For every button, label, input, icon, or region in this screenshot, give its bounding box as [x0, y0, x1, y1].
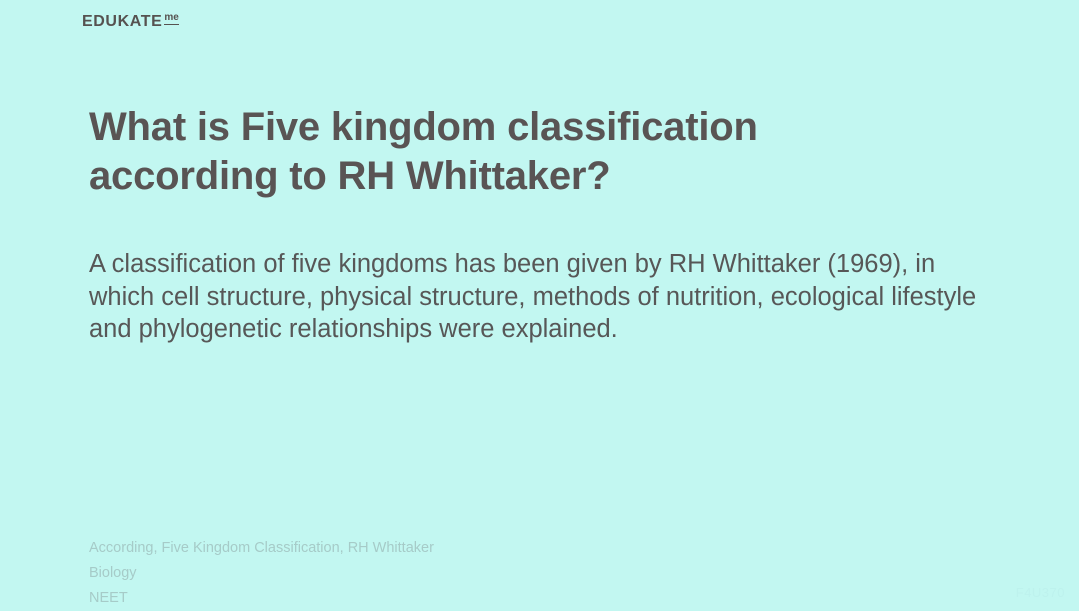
footer-line-keywords: According, Five Kingdom Classification, … [89, 536, 434, 561]
brand-suffix-text: me [164, 13, 178, 25]
page-title: What is Five kingdom classification acco… [89, 103, 949, 201]
brand-name-text: EDUKATE [82, 14, 162, 30]
corner-watermark: F4U370 [1016, 585, 1065, 600]
footer-line-exam: NEET [89, 586, 434, 611]
slide-canvas: EDUKATE me What is Five kingdom classifi… [0, 0, 1079, 607]
brand-logo: EDUKATE me [82, 14, 179, 30]
footer-tags: According, Five Kingdom Classification, … [89, 536, 434, 611]
footer-line-subject: Biology [89, 561, 434, 586]
body-paragraph: A classification of five kingdoms has be… [89, 248, 989, 346]
